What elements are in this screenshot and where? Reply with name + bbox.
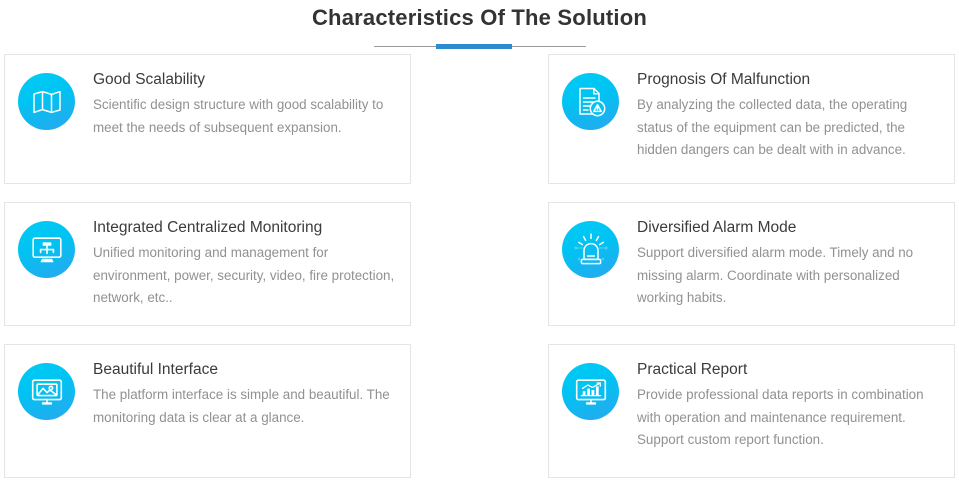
card-body: Prognosis Of Malfunction By analyzing th…: [619, 55, 954, 162]
card-title: Good Scalability: [93, 69, 398, 90]
feature-card-practical-report[interactable]: Practical Report Provide professional da…: [548, 344, 955, 478]
monitor-network-icon: [18, 221, 75, 278]
card-description: The platform interface is simple and bea…: [93, 384, 398, 429]
document-warning-icon: [562, 73, 619, 130]
feature-card-integrated-centralized-monitoring[interactable]: Integrated Centralized Monitoring Unifie…: [4, 202, 411, 326]
page-header: Characteristics Of The Solution: [0, 0, 959, 53]
card-description: Support diversified alarm mode. Timely a…: [637, 242, 942, 310]
card-title: Diversified Alarm Mode: [637, 217, 942, 238]
feature-card-good-scalability[interactable]: Good Scalability Scientific design struc…: [4, 54, 411, 184]
card-body: Diversified Alarm Mode Support diversifi…: [619, 203, 954, 310]
card-description: By analyzing the collected data, the ope…: [637, 94, 942, 162]
card-description: Scientific design structure with good sc…: [93, 94, 398, 139]
card-title: Prognosis Of Malfunction: [637, 69, 942, 90]
monitor-chart-icon: [562, 363, 619, 420]
feature-card-prognosis-of-malfunction[interactable]: Prognosis Of Malfunction By analyzing th…: [548, 54, 955, 184]
card-title: Integrated Centralized Monitoring: [93, 217, 398, 238]
feature-card-grid: Good Scalability Scientific design struc…: [0, 53, 959, 478]
title-divider-accent: [436, 44, 512, 49]
feature-card-diversified-alarm-mode[interactable]: Diversified Alarm Mode Support diversifi…: [548, 202, 955, 326]
alarm-siren-icon: [562, 221, 619, 278]
feature-card-beautiful-interface[interactable]: Beautiful Interface The platform interfa…: [4, 344, 411, 478]
card-body: Practical Report Provide professional da…: [619, 345, 954, 452]
card-body: Beautiful Interface The platform interfa…: [75, 345, 410, 429]
card-title: Practical Report: [637, 359, 942, 380]
title-divider: [374, 41, 586, 53]
card-title: Beautiful Interface: [93, 359, 398, 380]
card-description: Provide professional data reports in com…: [637, 384, 942, 452]
card-description: Unified monitoring and management for en…: [93, 242, 398, 310]
folded-map-icon: [18, 73, 75, 130]
card-body: Good Scalability Scientific design struc…: [75, 55, 410, 139]
monitor-image-icon: [18, 363, 75, 420]
page-title: Characteristics Of The Solution: [0, 2, 959, 32]
card-body: Integrated Centralized Monitoring Unifie…: [75, 203, 410, 310]
